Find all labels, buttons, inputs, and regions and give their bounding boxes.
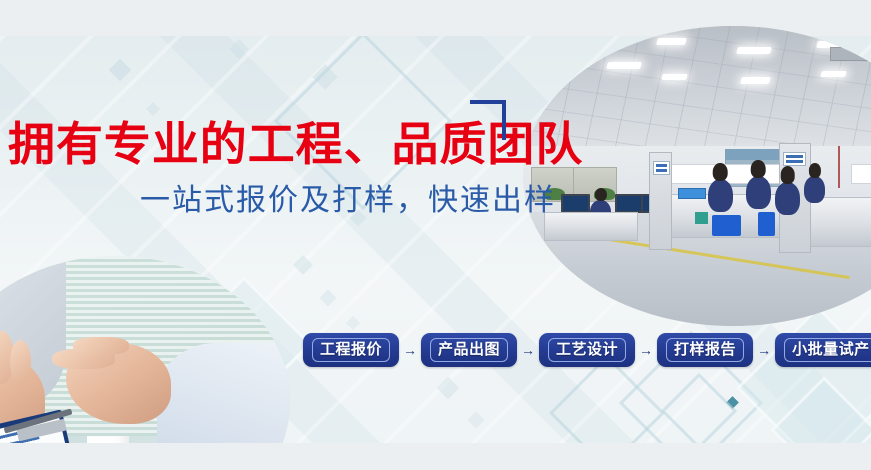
parts-bin — [678, 188, 705, 199]
office-stool — [712, 215, 741, 236]
parts-bin — [695, 212, 708, 224]
partition-label — [783, 152, 806, 166]
office-stool — [758, 212, 775, 236]
workbench-shelf — [851, 164, 871, 184]
office-monitor — [561, 194, 590, 213]
flow-step-label: 小批量试产 — [792, 341, 870, 359]
flow-arrow-icon: → — [753, 343, 775, 357]
office-worker — [775, 182, 800, 215]
promo-banner: 拥有专业的工程、品质团队 一站式报价及打样，快速出样 工程报价 → 产品出图 →… — [0, 0, 871, 470]
partition-label — [653, 161, 670, 175]
office-desk — [544, 212, 638, 241]
meeting-photo-scene — [0, 256, 290, 470]
flow-step-2[interactable]: 产品出图 — [421, 333, 517, 367]
office-photo — [523, 26, 871, 326]
flow-step-label: 产品出图 — [438, 341, 500, 359]
ceiling-lamp — [661, 74, 688, 80]
meeting-photo — [0, 256, 290, 470]
finger — [73, 337, 129, 354]
flow-arrow-icon: → — [399, 343, 421, 357]
ceiling-vent — [830, 47, 870, 61]
flow-step-1[interactable]: 工程报价 — [303, 333, 399, 367]
workbench — [800, 197, 871, 247]
office-worker — [708, 179, 733, 212]
workbench-shelf — [666, 164, 794, 184]
wall-pipe — [838, 146, 840, 188]
bottom-strip — [0, 443, 871, 470]
flow-step-inner: 打样报告 — [666, 338, 744, 362]
corner-bracket-decor — [470, 100, 506, 140]
ceiling-lamp — [547, 44, 587, 52]
flow-step-inner: 小批量试产 — [784, 338, 871, 362]
flow-step-label: 打样报告 — [674, 341, 736, 359]
flow-arrow-icon: → — [635, 343, 657, 357]
office-photo-scene — [523, 26, 871, 326]
process-flow: 工程报价 → 产品出图 → 工艺设计 → 打样报告 → 小批量试产 → — [303, 333, 871, 367]
office-worker — [746, 176, 771, 209]
flow-step-4[interactable]: 打样报告 — [657, 333, 753, 367]
subheadline: 一站式报价及打样，快速出样 — [140, 182, 556, 220]
flow-step-3[interactable]: 工艺设计 — [539, 333, 635, 367]
flow-arrow-icon: → — [517, 343, 539, 357]
finger — [10, 340, 31, 384]
ceiling-lamp — [656, 38, 687, 45]
flow-step-inner: 产品出图 — [430, 338, 508, 362]
ceiling-lamp — [736, 47, 772, 54]
flow-step-label: 工程报价 — [320, 341, 382, 359]
flow-step-inner: 工艺设计 — [548, 338, 626, 362]
ceiling-lamp — [740, 77, 771, 84]
office-worker — [804, 176, 825, 203]
flow-step-5[interactable]: 小批量试产 — [775, 333, 871, 367]
flow-step-inner: 工程报价 — [312, 338, 390, 362]
ceiling-lamp — [606, 62, 642, 69]
flow-step-label: 工艺设计 — [556, 341, 618, 359]
ceiling-lamp — [820, 71, 847, 77]
